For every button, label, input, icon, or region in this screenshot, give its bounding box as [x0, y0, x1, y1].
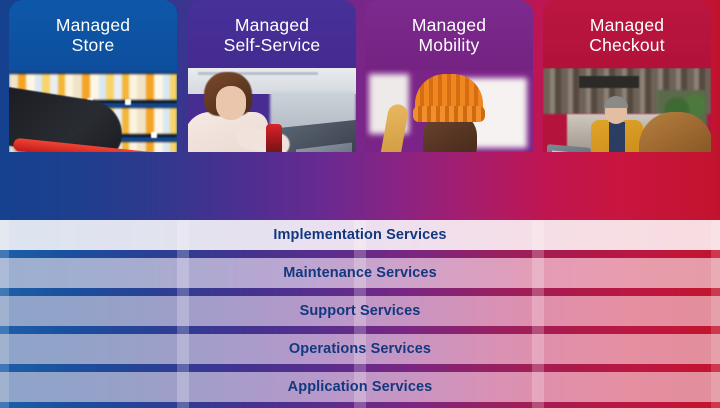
- card-title-managed-self-service: Managed Self-Service: [224, 15, 321, 55]
- band-divider: [0, 402, 720, 408]
- card-title-line1: Managed: [412, 15, 486, 35]
- card-title-managed-mobility: Managed Mobility: [412, 15, 486, 55]
- band-divider: [0, 364, 720, 372]
- service-bands: Implementation Services Maintenance Serv…: [0, 220, 720, 408]
- band-row-maintenance[interactable]: Maintenance Services: [0, 258, 720, 296]
- card-title-line2: Mobility: [419, 35, 480, 55]
- card-title-line2: Checkout: [589, 35, 665, 55]
- band-row-implementation[interactable]: Implementation Services: [0, 220, 720, 258]
- card-managed-self-service[interactable]: Managed Self-Service: [188, 0, 356, 152]
- card-header-managed-store: Managed Store: [9, 0, 177, 70]
- band-row-application[interactable]: Application Services: [0, 372, 720, 408]
- card-managed-mobility[interactable]: Managed Mobility: [365, 0, 533, 152]
- right-edge-stripe: [711, 220, 720, 408]
- card-title-line2: Self-Service: [224, 35, 321, 55]
- band-divider: [0, 250, 720, 258]
- card-photo-managed-checkout: [543, 68, 711, 152]
- service-band-operations[interactable]: Operations Services: [0, 334, 720, 364]
- service-band-support[interactable]: Support Services: [0, 296, 720, 326]
- card-header-managed-checkout: Managed Checkout: [543, 0, 711, 70]
- service-band-implementation[interactable]: Implementation Services: [0, 220, 720, 250]
- card-title-managed-store: Managed Store: [56, 15, 130, 55]
- infographic-canvas: Managed Store: [0, 0, 720, 408]
- card-managed-checkout[interactable]: Managed Checkout: [543, 0, 711, 152]
- service-band-maintenance[interactable]: Maintenance Services: [0, 258, 720, 288]
- card-title-line1: Managed: [590, 15, 664, 35]
- band-divider: [0, 326, 720, 334]
- service-band-label: Application Services: [288, 379, 433, 395]
- card-photo-managed-self-service: [188, 68, 356, 152]
- left-edge-stripe: [0, 220, 9, 408]
- card-header-managed-self-service: Managed Self-Service: [188, 0, 356, 70]
- band-row-support[interactable]: Support Services: [0, 296, 720, 334]
- card-header-managed-mobility: Managed Mobility: [365, 0, 533, 70]
- service-band-label: Operations Services: [289, 341, 431, 357]
- band-row-operations[interactable]: Operations Services: [0, 334, 720, 372]
- card-title-line1: Managed: [56, 15, 130, 35]
- service-band-label: Support Services: [300, 303, 421, 319]
- card-title-line2: Store: [72, 35, 115, 55]
- service-band-label: Implementation Services: [273, 227, 446, 243]
- band-divider: [0, 288, 720, 296]
- card-photo-managed-mobility: [365, 68, 533, 152]
- service-band-label: Maintenance Services: [283, 265, 437, 281]
- service-band-application[interactable]: Application Services: [0, 372, 720, 402]
- card-title-line1: Managed: [235, 15, 309, 35]
- card-title-managed-checkout: Managed Checkout: [589, 15, 665, 55]
- card-managed-store[interactable]: Managed Store: [9, 0, 177, 152]
- card-photo-managed-store: [9, 68, 177, 152]
